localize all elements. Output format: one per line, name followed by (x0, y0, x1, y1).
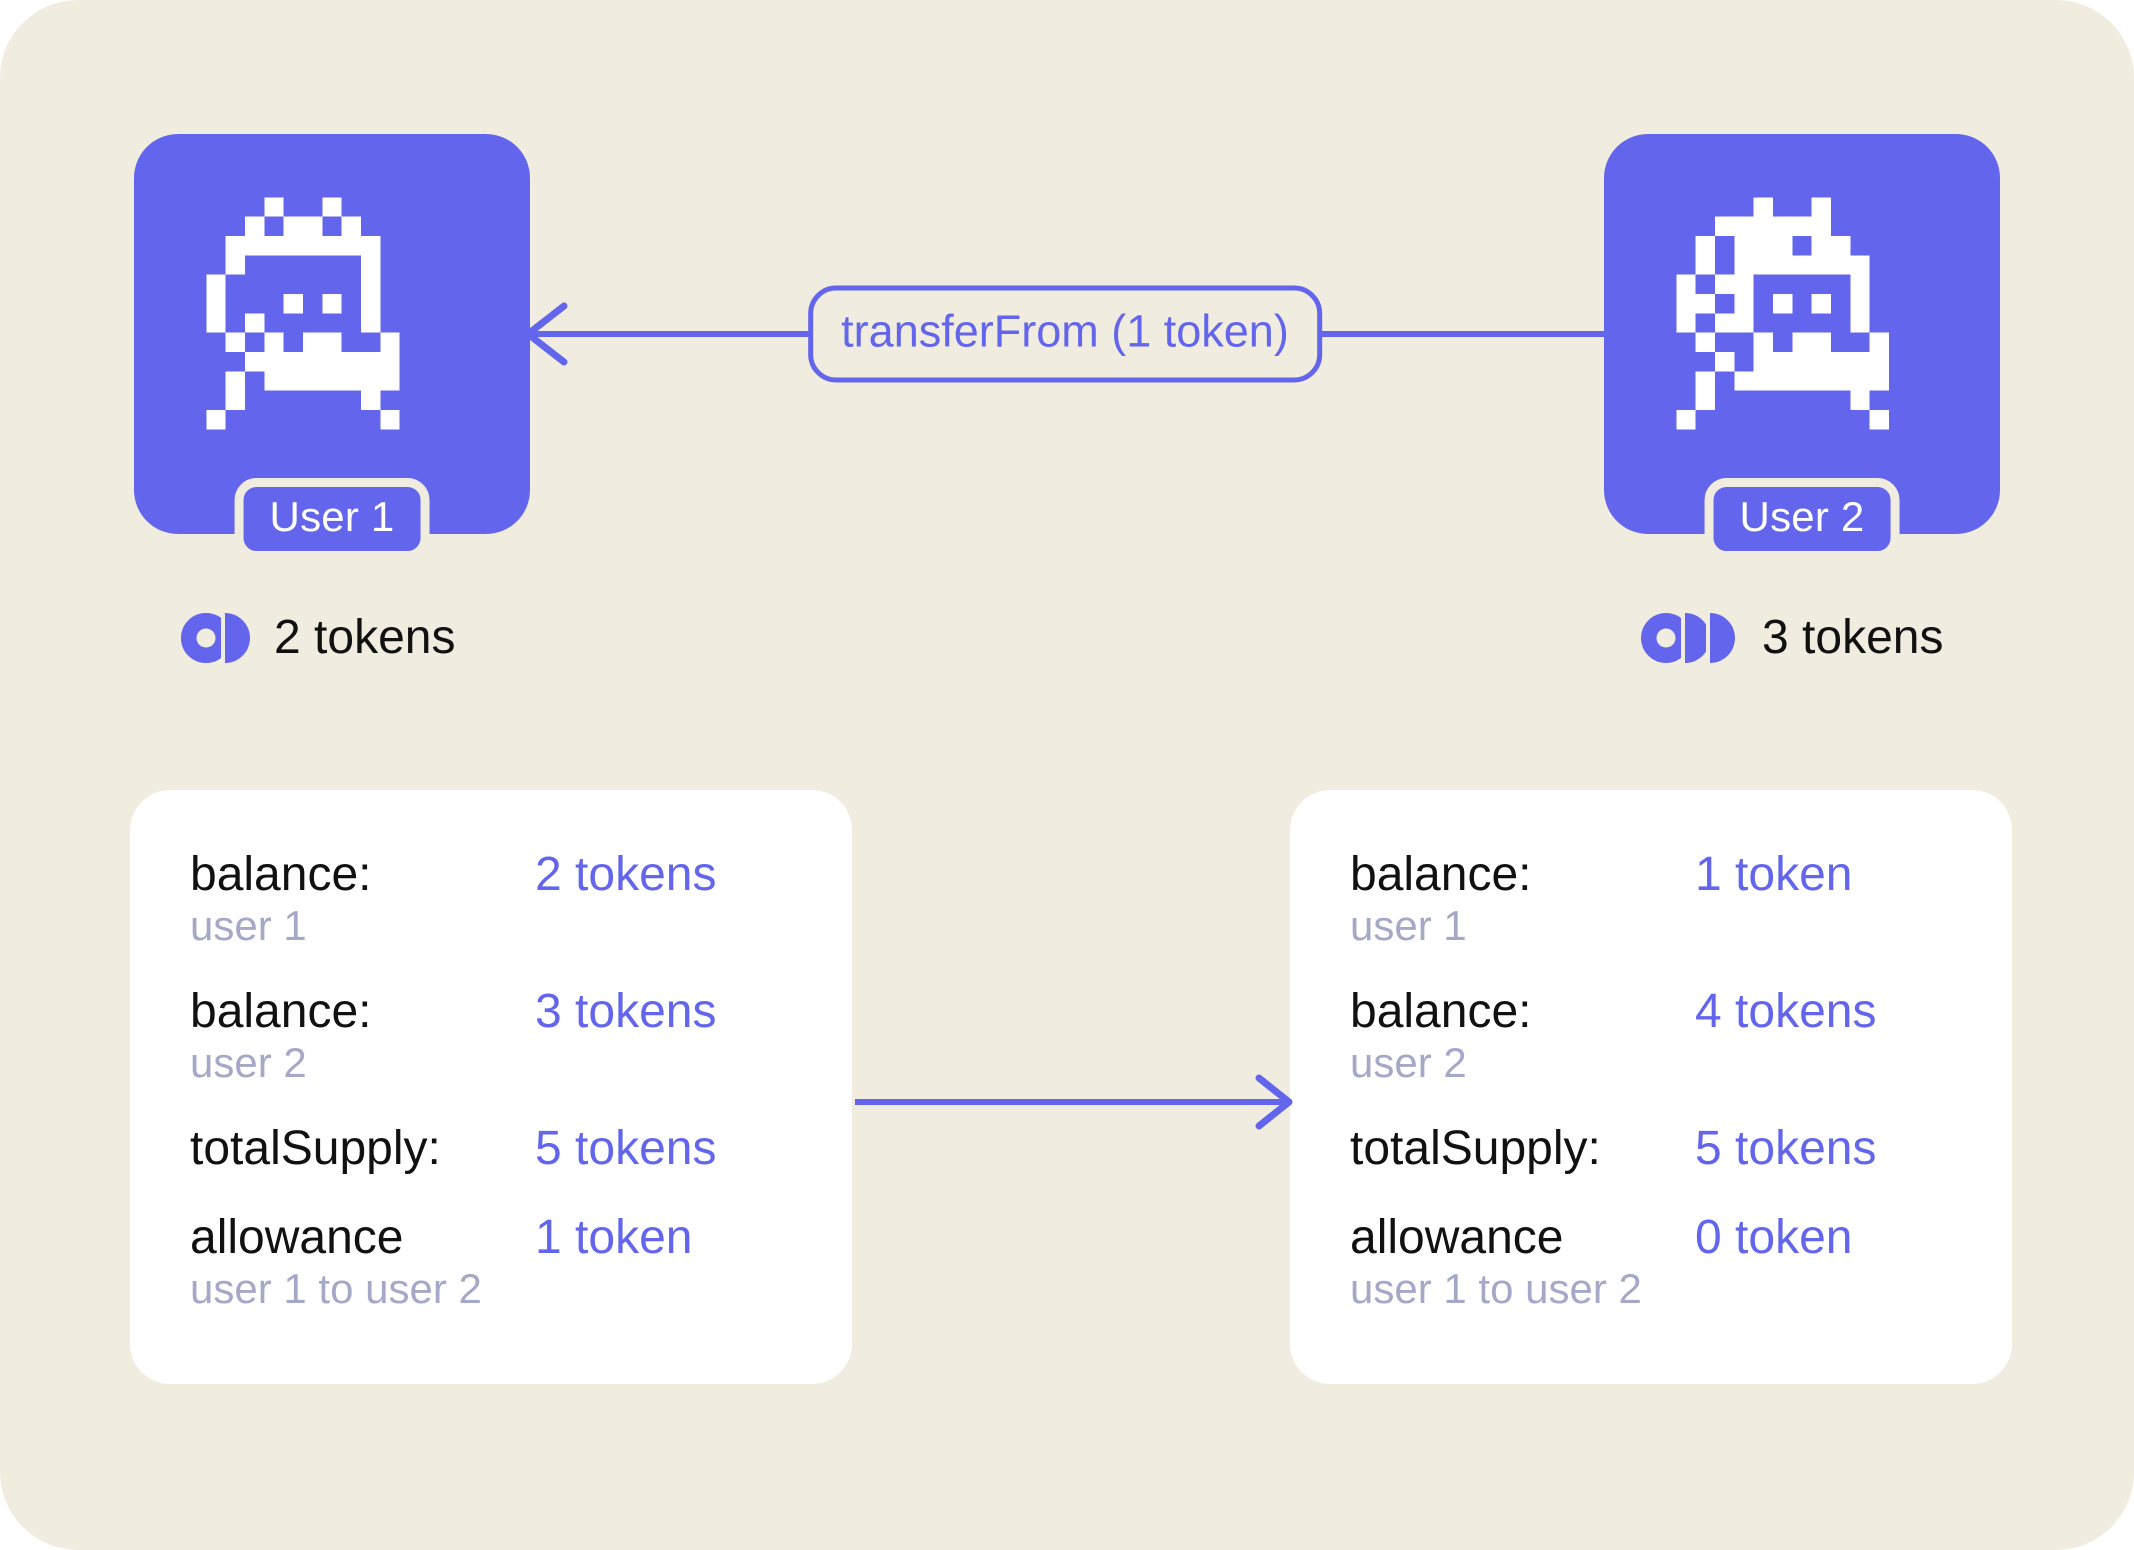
arrow-right-icon (855, 1072, 1295, 1132)
state-row: allowance user 1 to user 2 1 token (130, 1211, 852, 1312)
state-row: allowance user 1 to user 2 0 token (1290, 1211, 2012, 1312)
state-row-key: balance: user 2 (1350, 985, 1695, 1086)
state-card-after: balance: user 1 1 token balance: user 2 … (1290, 790, 2012, 1384)
state-row-key-main: totalSupply: (1350, 1122, 1695, 1176)
token-count-user1: 2 tokens (180, 612, 455, 664)
state-row-key-main: totalSupply: (190, 1122, 535, 1176)
state-row-key: totalSupply: (190, 1122, 535, 1176)
state-row-key-sub: user 1 (190, 902, 535, 949)
pixel-robot-avatar-icon (1652, 178, 1952, 468)
state-row-value: 1 token (1695, 848, 1852, 902)
state-row-key-main: balance: (190, 985, 535, 1039)
transfer-connector: transferFrom (1 token) (520, 278, 1610, 390)
avatar-tile-user2: User 2 (1604, 134, 2000, 534)
state-row-key-main: allowance (1350, 1211, 1695, 1265)
state-row-key-sub: user 2 (190, 1039, 535, 1086)
state-row: balance: user 1 2 tokens (130, 848, 852, 949)
state-row: totalSupply: 5 tokens (1290, 1122, 2012, 1176)
state-row-value: 4 tokens (1695, 985, 1876, 1039)
state-row-value: 5 tokens (1695, 1122, 1876, 1176)
state-row-key-sub: user 1 (1350, 902, 1695, 949)
state-row-key-sub: user 1 to user 2 (190, 1265, 535, 1312)
diagram-canvas: User 1 (0, 0, 2134, 1550)
state-row-value: 0 token (1695, 1211, 1852, 1265)
state-row-key-sub: user 1 to user 2 (1350, 1265, 1695, 1312)
state-row: balance: user 2 4 tokens (1290, 985, 2012, 1086)
token-count-label: 2 tokens (274, 614, 455, 662)
state-row-key-sub: user 2 (1350, 1039, 1695, 1086)
token-stack-icon (1640, 612, 1740, 664)
state-row: balance: user 1 1 token (1290, 848, 2012, 949)
state-row-value: 2 tokens (535, 848, 716, 902)
user-badge-user1: User 1 (235, 478, 430, 560)
state-row-key: balance: user 1 (190, 848, 535, 949)
state-transition-arrow (855, 1072, 1295, 1132)
state-row-key-main: balance: (1350, 985, 1695, 1039)
state-row-key: balance: user 2 (190, 985, 535, 1086)
token-count-label: 3 tokens (1762, 614, 1943, 662)
state-row: totalSupply: 5 tokens (130, 1122, 852, 1176)
transfer-from-label: transferFrom (1 token) (808, 286, 1322, 383)
state-row-key: totalSupply: (1350, 1122, 1695, 1176)
avatar-tile-user1: User 1 (134, 134, 530, 534)
pixel-robot-avatar-icon (182, 178, 482, 468)
state-row-key-main: balance: (190, 848, 535, 902)
state-row-key: allowance user 1 to user 2 (1350, 1211, 1695, 1312)
state-card-before: balance: user 1 2 tokens balance: user 2… (130, 790, 852, 1384)
state-row-key-main: balance: (1350, 848, 1695, 902)
state-row-key: balance: user 1 (1350, 848, 1695, 949)
user-badge-user2: User 2 (1705, 478, 1900, 560)
state-row-key-main: allowance (190, 1211, 535, 1265)
state-row-value: 3 tokens (535, 985, 716, 1039)
state-row-value: 5 tokens (535, 1122, 716, 1176)
token-stack-icon (180, 612, 252, 664)
token-count-user2: 3 tokens (1640, 612, 1943, 664)
state-row-value: 1 token (535, 1211, 692, 1265)
state-row: balance: user 2 3 tokens (130, 985, 852, 1086)
state-row-key: allowance user 1 to user 2 (190, 1211, 535, 1312)
